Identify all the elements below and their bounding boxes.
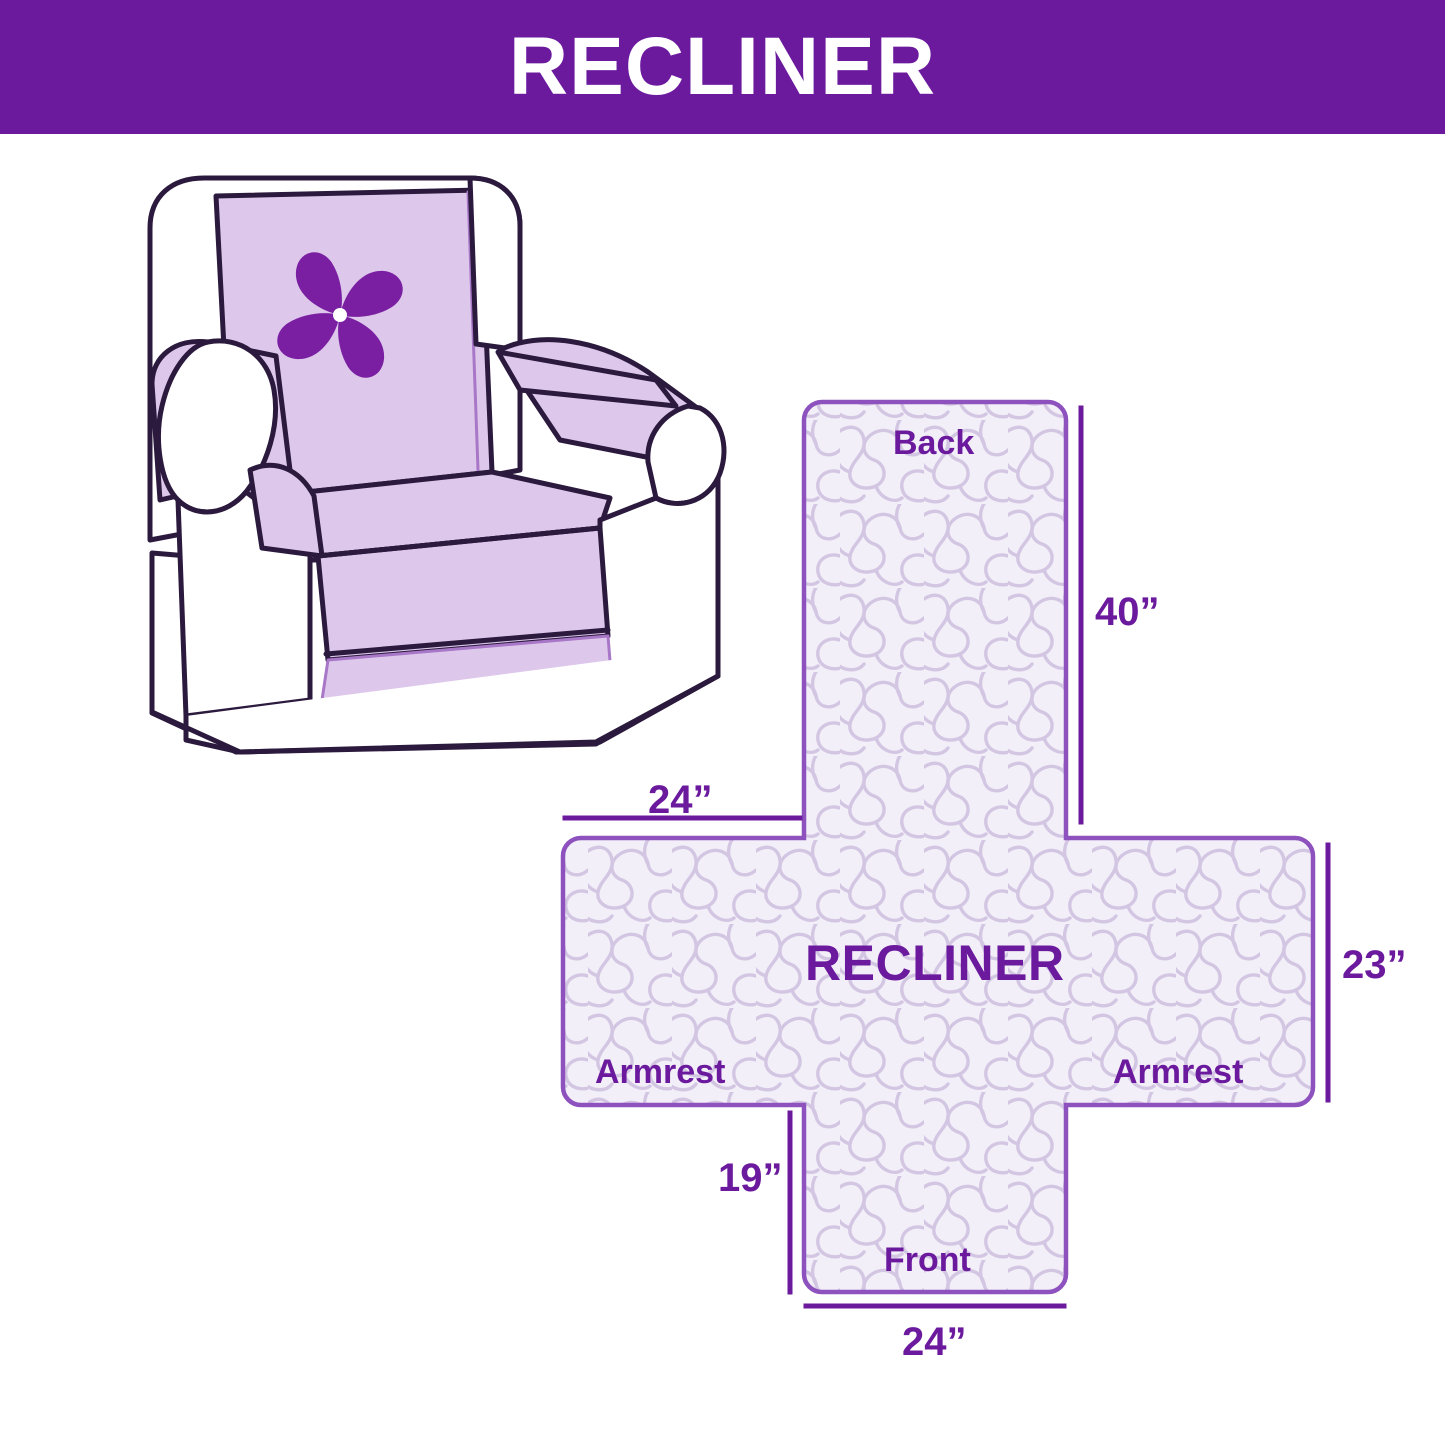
dimension-label-front-width: 24”	[902, 1322, 967, 1362]
dimension-label-armrest-width: 24”	[648, 780, 713, 820]
panel-label-armrest-right: Armrest	[1113, 1055, 1243, 1089]
dimension-label-center-height: 23”	[1342, 945, 1407, 985]
dimension-label-back-height: 40”	[1095, 592, 1160, 632]
panel-label-front: Front	[884, 1243, 971, 1277]
dimension-label-front-height: 19”	[718, 1158, 783, 1198]
panel-label-center: RECLINER	[805, 938, 1065, 988]
recliner-chair-illustration	[150, 178, 724, 752]
panel-label-back: Back	[893, 426, 974, 460]
panel-label-armrest-left: Armrest	[595, 1055, 725, 1089]
diagram-stage: Back RECLINER Armrest Armrest Front 40” …	[0, 0, 1445, 1445]
diagram-svg	[0, 0, 1445, 1445]
